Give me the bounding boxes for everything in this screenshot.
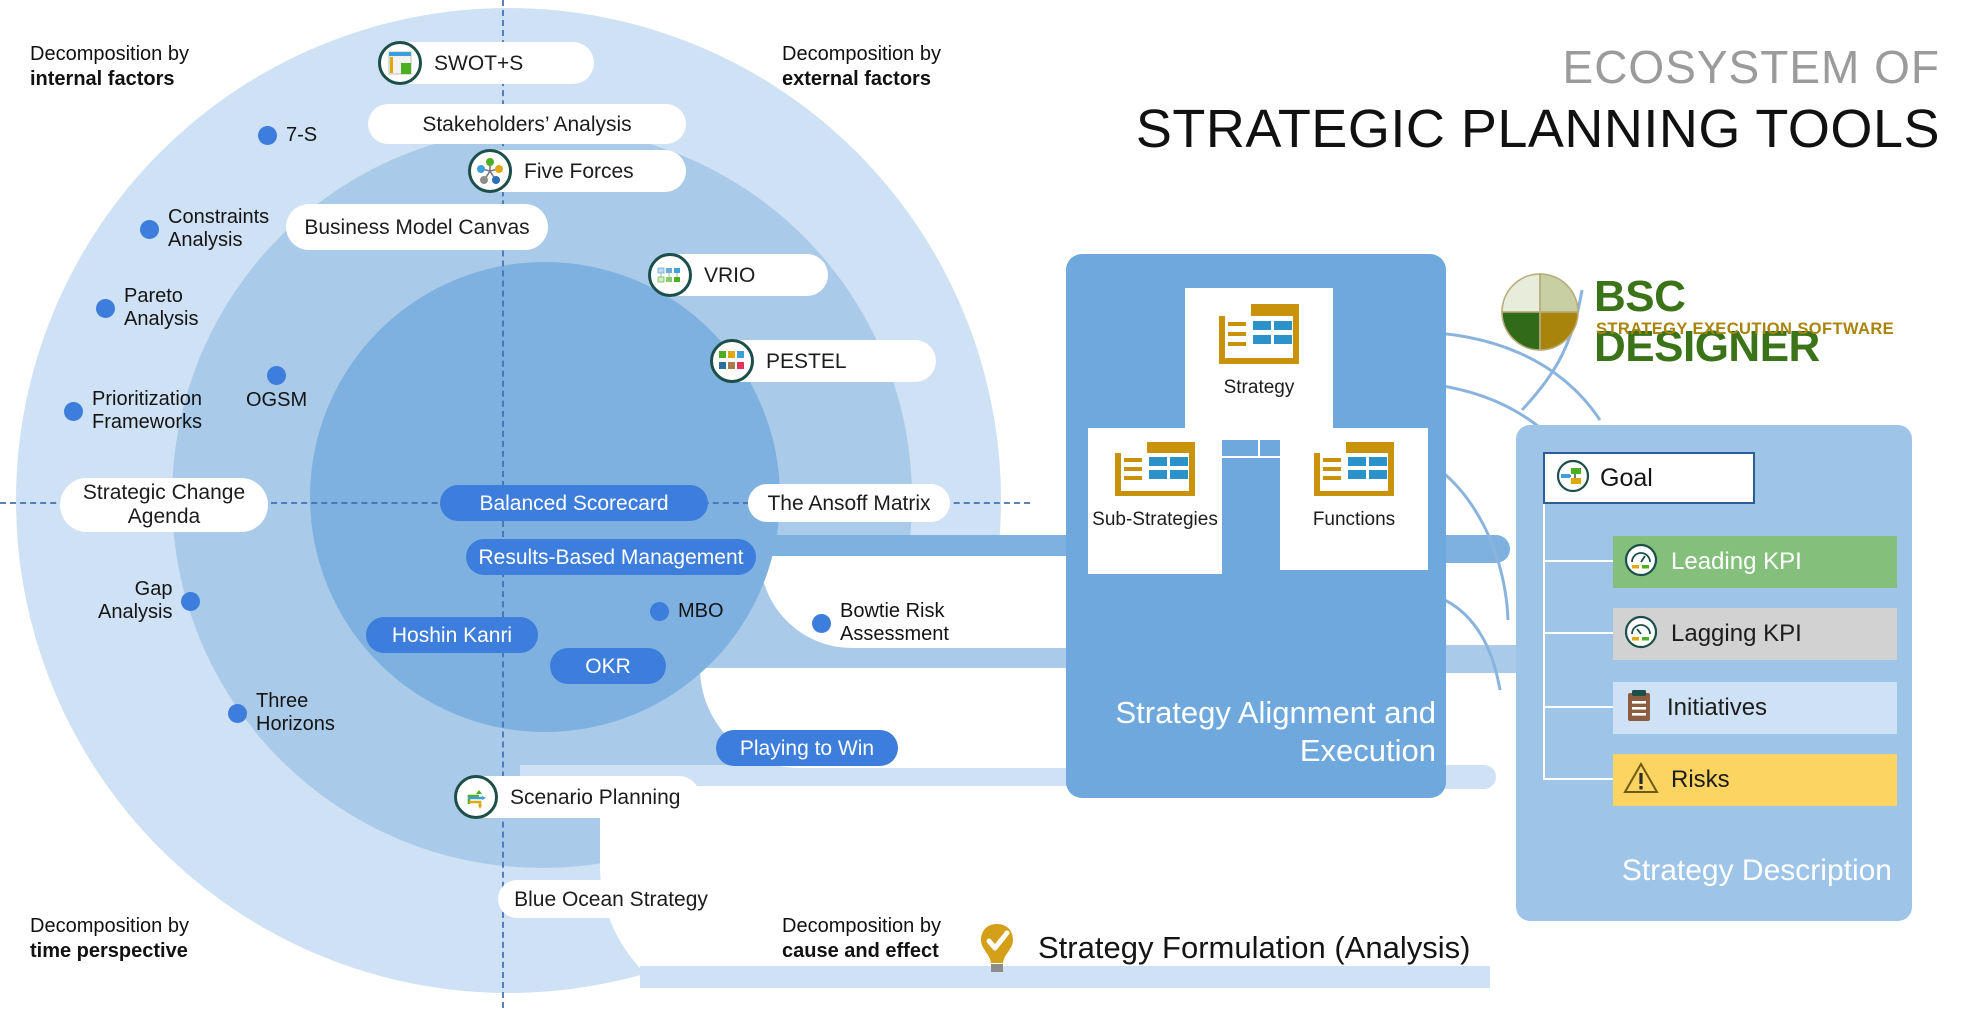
row-leading-kpi[interactable]: Leading KPI <box>1613 536 1897 588</box>
dot-item-constraints-analysis[interactable]: Constraints Analysis <box>140 206 269 252</box>
dot-item-label: Pareto Analysis <box>124 285 198 331</box>
alignment-panel-caption: Strategy Alignment and Execution <box>1086 694 1436 770</box>
dot-item-label: MBO <box>678 600 724 623</box>
description-panel-caption: Strategy Description <box>1540 854 1892 888</box>
pill-okr[interactable]: OKR <box>550 648 666 684</box>
row-label: Lagging KPI <box>1671 620 1802 648</box>
network-icon <box>468 149 512 193</box>
dot-item-prioritization-frameworks[interactable]: Prioritization Frameworks <box>64 388 202 434</box>
pill-results-based-management[interactable]: Results-Based Management <box>466 539 756 575</box>
dot-item-three-horizons[interactable]: Three Horizons <box>228 690 335 736</box>
quadrant-line2: internal factors <box>30 68 174 90</box>
row-label: Leading KPI <box>1671 548 1802 576</box>
goal-box[interactable]: Goal <box>1543 452 1755 504</box>
row-risks[interactable]: Risks <box>1613 754 1897 806</box>
quadrant-line2: cause and effect <box>782 940 939 962</box>
pill-strategic-change-agenda[interactable]: Strategic Change Agenda <box>60 478 268 532</box>
scenario-icon <box>454 775 498 819</box>
formulation-underline-bar <box>640 966 1490 988</box>
pill-label: Balanced Scorecard <box>479 493 668 514</box>
dot-item-7s[interactable]: 7-S <box>258 124 317 147</box>
dot-item-label: Constraints Analysis <box>168 206 269 252</box>
scorecard-icon <box>1217 302 1301 371</box>
pie-quadrant-icon <box>1498 270 1582 354</box>
bullet-dot <box>258 126 277 145</box>
row-label: Initiatives <box>1667 694 1767 722</box>
goal-label: Goal <box>1600 464 1653 493</box>
bullet-dot <box>181 592 200 611</box>
quadrant-line2: external factors <box>782 68 931 90</box>
pill-five-forces[interactable]: Five Forces <box>470 150 686 192</box>
bullet-dot <box>812 614 831 633</box>
pill-label: Blue Ocean Strategy <box>514 889 708 910</box>
pill-hoshin-kanri[interactable]: Hoshin Kanri <box>366 617 538 653</box>
bsc-designer-logo: BSC DESIGNER STRATEGY EXECUTION SOFTWARE <box>1498 276 1918 348</box>
desc-tree-branch-1 <box>1543 560 1615 562</box>
swot-icon <box>378 41 422 85</box>
dot-item-bowtie-risk-assessment[interactable]: Bowtie Risk Assessment <box>812 600 949 646</box>
pill-label: PESTEL <box>766 351 847 372</box>
quadrant-line1: Decomposition by <box>782 43 941 65</box>
grid-icon <box>710 339 754 383</box>
pill-vrio[interactable]: VRIO <box>650 254 828 296</box>
pill-ansoff-matrix[interactable]: The Ansoff Matrix <box>748 484 950 522</box>
dot-item-label: Bowtie Risk Assessment <box>840 600 949 646</box>
bullet-dot <box>228 704 247 723</box>
quadrant-caption-external: Decomposition by external factors <box>782 42 941 92</box>
card-sub-strategies[interactable]: Sub-Strategies <box>1088 428 1222 574</box>
pill-label: VRIO <box>704 265 755 286</box>
desc-tree-branch-3 <box>1543 706 1615 708</box>
dot-item-gap-analysis[interactable]: Gap Analysis <box>98 578 200 624</box>
card-functions[interactable]: Functions <box>1280 428 1428 570</box>
clipboard-icon <box>1623 688 1655 729</box>
page-eyebrow: ECOSYSTEM OF <box>1563 40 1940 94</box>
dot-item-label: Gap Analysis <box>98 578 172 624</box>
dot-item-ogsm[interactable]: OGSM <box>246 366 307 412</box>
desc-tree-spine <box>1543 478 1545 780</box>
formulation-label: Strategy Formulation (Analysis) <box>1038 930 1470 966</box>
pill-stakeholders-analysis[interactable]: Stakeholders’ Analysis <box>368 104 686 144</box>
quadrant-caption-time: Decomposition by time perspective <box>30 914 189 964</box>
pill-swot-s[interactable]: SWOT+S <box>380 42 594 84</box>
pill-label: OKR <box>585 656 631 677</box>
pill-playing-to-win[interactable]: Playing to Win <box>716 730 898 766</box>
dot-item-pareto-analysis[interactable]: Pareto Analysis <box>96 285 198 331</box>
dot-item-label: Prioritization Frameworks <box>92 388 202 434</box>
bullet-dot <box>650 602 669 621</box>
quadrant-caption-cause: Decomposition by cause and effect <box>782 914 941 964</box>
row-lagging-kpi[interactable]: Lagging KPI <box>1613 608 1897 660</box>
pill-business-model-canvas[interactable]: Business Model Canvas <box>286 204 548 250</box>
desc-tree-branch-2 <box>1543 632 1615 634</box>
quadrant-caption-internal: Decomposition by internal factors <box>30 42 189 92</box>
warning-icon <box>1623 761 1659 800</box>
quadrant-line1: Decomposition by <box>30 43 189 65</box>
logo-tagline: STRATEGY EXECUTION SOFTWARE <box>1596 320 1894 339</box>
pill-label: The Ansoff Matrix <box>767 493 930 514</box>
bullet-dot <box>267 366 286 385</box>
bulb-check-icon <box>978 922 1016 974</box>
dot-item-label: Three Horizons <box>256 690 335 736</box>
pill-label: Hoshin Kanri <box>392 625 512 646</box>
card-label: Strategy <box>1224 377 1295 399</box>
pill-pestel[interactable]: PESTEL <box>712 340 936 382</box>
dot-item-label: OGSM <box>246 389 307 412</box>
pill-label: SWOT+S <box>434 53 523 74</box>
scorecard-icon <box>1312 440 1396 503</box>
pill-label: Stakeholders’ Analysis <box>422 114 631 135</box>
desc-tree-branch-4 <box>1543 778 1615 780</box>
pill-blue-ocean-strategy[interactable]: Blue Ocean Strategy <box>498 880 724 918</box>
dot-item-label: 7-S <box>286 124 317 147</box>
scorecard-icon <box>1113 440 1197 503</box>
pill-label: Five Forces <box>524 161 634 182</box>
bullet-dot <box>140 220 159 239</box>
pill-label: Playing to Win <box>740 738 874 759</box>
bullet-dot <box>64 402 83 421</box>
pill-scenario-planning[interactable]: Scenario Planning <box>456 776 700 818</box>
swoosh-arm-outer-cap <box>1460 765 1496 789</box>
quadrant-line2: time perspective <box>30 940 188 962</box>
pill-label: Results-Based Management <box>479 547 744 568</box>
gauge-icon <box>1623 614 1659 655</box>
row-initiatives[interactable]: Initiatives <box>1613 682 1897 734</box>
bullet-dot <box>96 299 115 318</box>
card-label: Functions <box>1313 509 1395 531</box>
pill-label: Scenario Planning <box>510 787 680 808</box>
card-strategy[interactable]: Strategy <box>1185 288 1333 440</box>
quadrant-line1: Decomposition by <box>30 915 189 937</box>
page-title: STRATEGIC PLANNING TOOLS <box>1136 98 1940 160</box>
pill-label: Business Model Canvas <box>304 217 529 238</box>
card-label: Sub-Strategies <box>1092 509 1218 531</box>
gauge-icon <box>1623 542 1659 583</box>
hierarchy-icon <box>648 253 692 297</box>
pill-balanced-scorecard[interactable]: Balanced Scorecard <box>440 485 708 521</box>
pill-label: Strategic Change Agenda <box>83 481 245 529</box>
quadrant-line1: Decomposition by <box>782 915 941 937</box>
row-label: Risks <box>1671 766 1730 794</box>
goal-icon <box>1555 458 1591 499</box>
dot-item-mbo[interactable]: MBO <box>650 600 724 623</box>
